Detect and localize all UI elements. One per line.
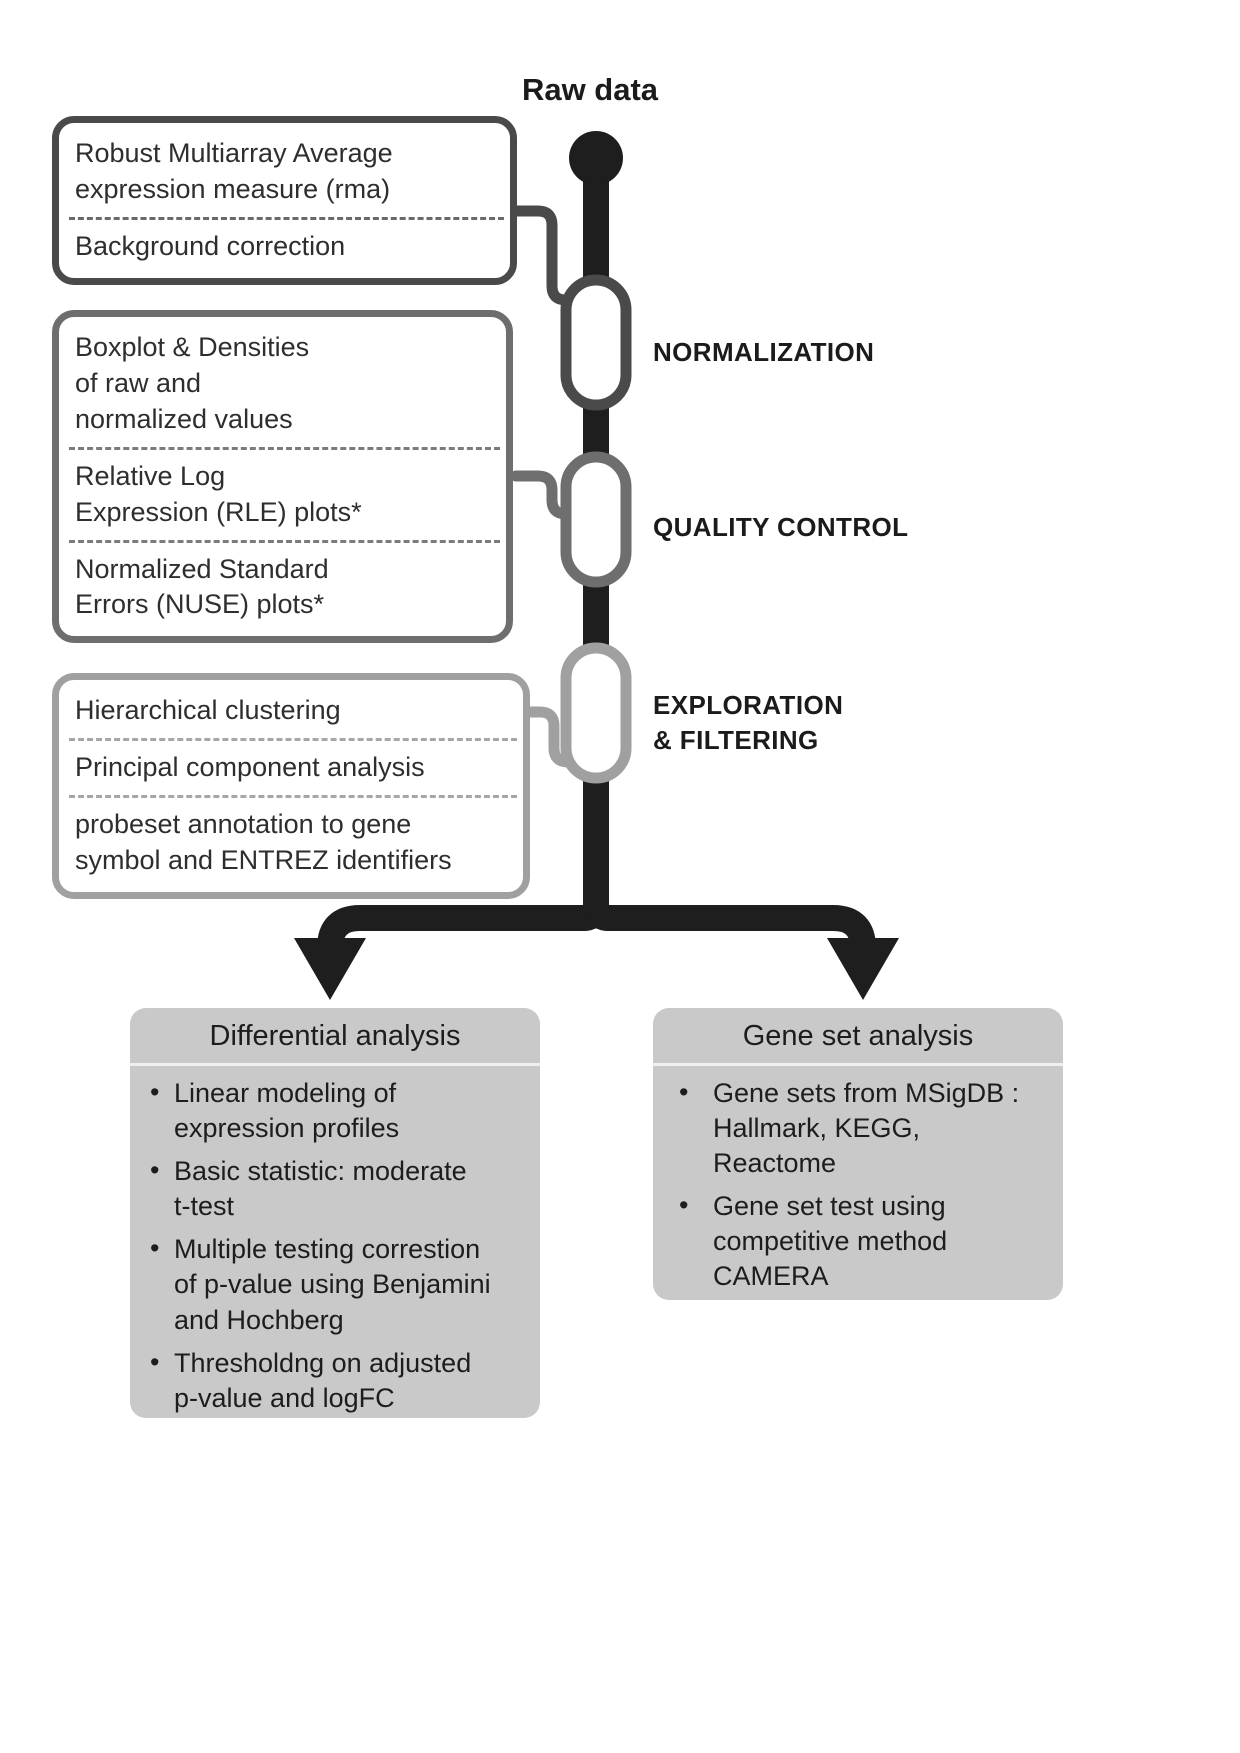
fork-left-branch xyxy=(330,905,596,960)
stage-item-rle-plots: Relative Log Expression (RLE) plots* xyxy=(59,450,506,540)
workflow-diagram: Raw data Robust Multiarray Average expre… xyxy=(0,0,1240,1753)
output-panel-differential-analysis: Differential analysis Linear modeling of… xyxy=(130,1008,540,1418)
output-bullet-list: Gene sets from MSigDB : Hallmark, KEGG, … xyxy=(653,1066,1063,1300)
stage-item-hierarchical-clustering: Hierarchical clustering xyxy=(59,684,523,738)
stage-card-normalization: Robust Multiarray Average expression mea… xyxy=(52,116,517,285)
stage-card-quality-control: Boxplot & Densities of raw and normalize… xyxy=(52,310,513,643)
list-item: Thresholdng on adjusted p-value and logF… xyxy=(144,1346,526,1416)
quality-control-stage-node xyxy=(516,457,626,582)
arrowhead-geneset xyxy=(827,938,899,1000)
exploration-stage-node xyxy=(521,648,626,778)
output-panel-title: Gene set analysis xyxy=(653,1008,1063,1066)
stage-item-rma: Robust Multiarray Average expression mea… xyxy=(59,127,510,217)
list-item: Gene sets from MSigDB : Hallmark, KEGG, … xyxy=(667,1076,1049,1181)
output-panel-gene-set-analysis: Gene set analysis Gene sets from MSigDB … xyxy=(653,1008,1063,1300)
quality-control-bracket xyxy=(516,476,566,514)
stage-item-nuse-plots: Normalized Standard Errors (NUSE) plots* xyxy=(59,543,506,633)
list-item: Multiple testing correstion of p-value u… xyxy=(144,1232,526,1337)
stage-item-pca: Principal component analysis xyxy=(59,741,523,795)
raw-data-start-dot xyxy=(569,131,623,185)
list-item: Basic statistic: moderate t-test xyxy=(144,1154,526,1224)
output-bullet-list: Linear modeling of expression profiles B… xyxy=(130,1066,540,1418)
output-panel-title: Differential analysis xyxy=(130,1008,540,1066)
list-item: Gene set test using competitive method C… xyxy=(667,1189,1049,1294)
stage-item-background-correction: Background correction xyxy=(59,220,510,274)
stage-label-quality-control: QUALITY CONTROL xyxy=(653,510,908,545)
output-fork-arrows xyxy=(294,905,899,1000)
normalization-bracket xyxy=(516,211,566,300)
fork-right-branch xyxy=(596,905,863,960)
stage-label-normalization: NORMALIZATION xyxy=(653,335,874,370)
arrowhead-differential xyxy=(294,938,366,1000)
normalization-stage-node xyxy=(516,211,626,405)
page-title: Raw data xyxy=(470,72,710,108)
list-item: Linear modeling of expression profiles xyxy=(144,1076,526,1146)
stage-card-exploration-filtering: Hierarchical clustering Principal compon… xyxy=(52,673,530,899)
stage-label-exploration-filtering: EXPLORATION & FILTERING xyxy=(653,688,843,758)
stage-item-probeset-annotation: probeset annotation to gene symbol and E… xyxy=(59,798,523,888)
stage-item-boxplot-densities: Boxplot & Densities of raw and normalize… xyxy=(59,321,506,447)
